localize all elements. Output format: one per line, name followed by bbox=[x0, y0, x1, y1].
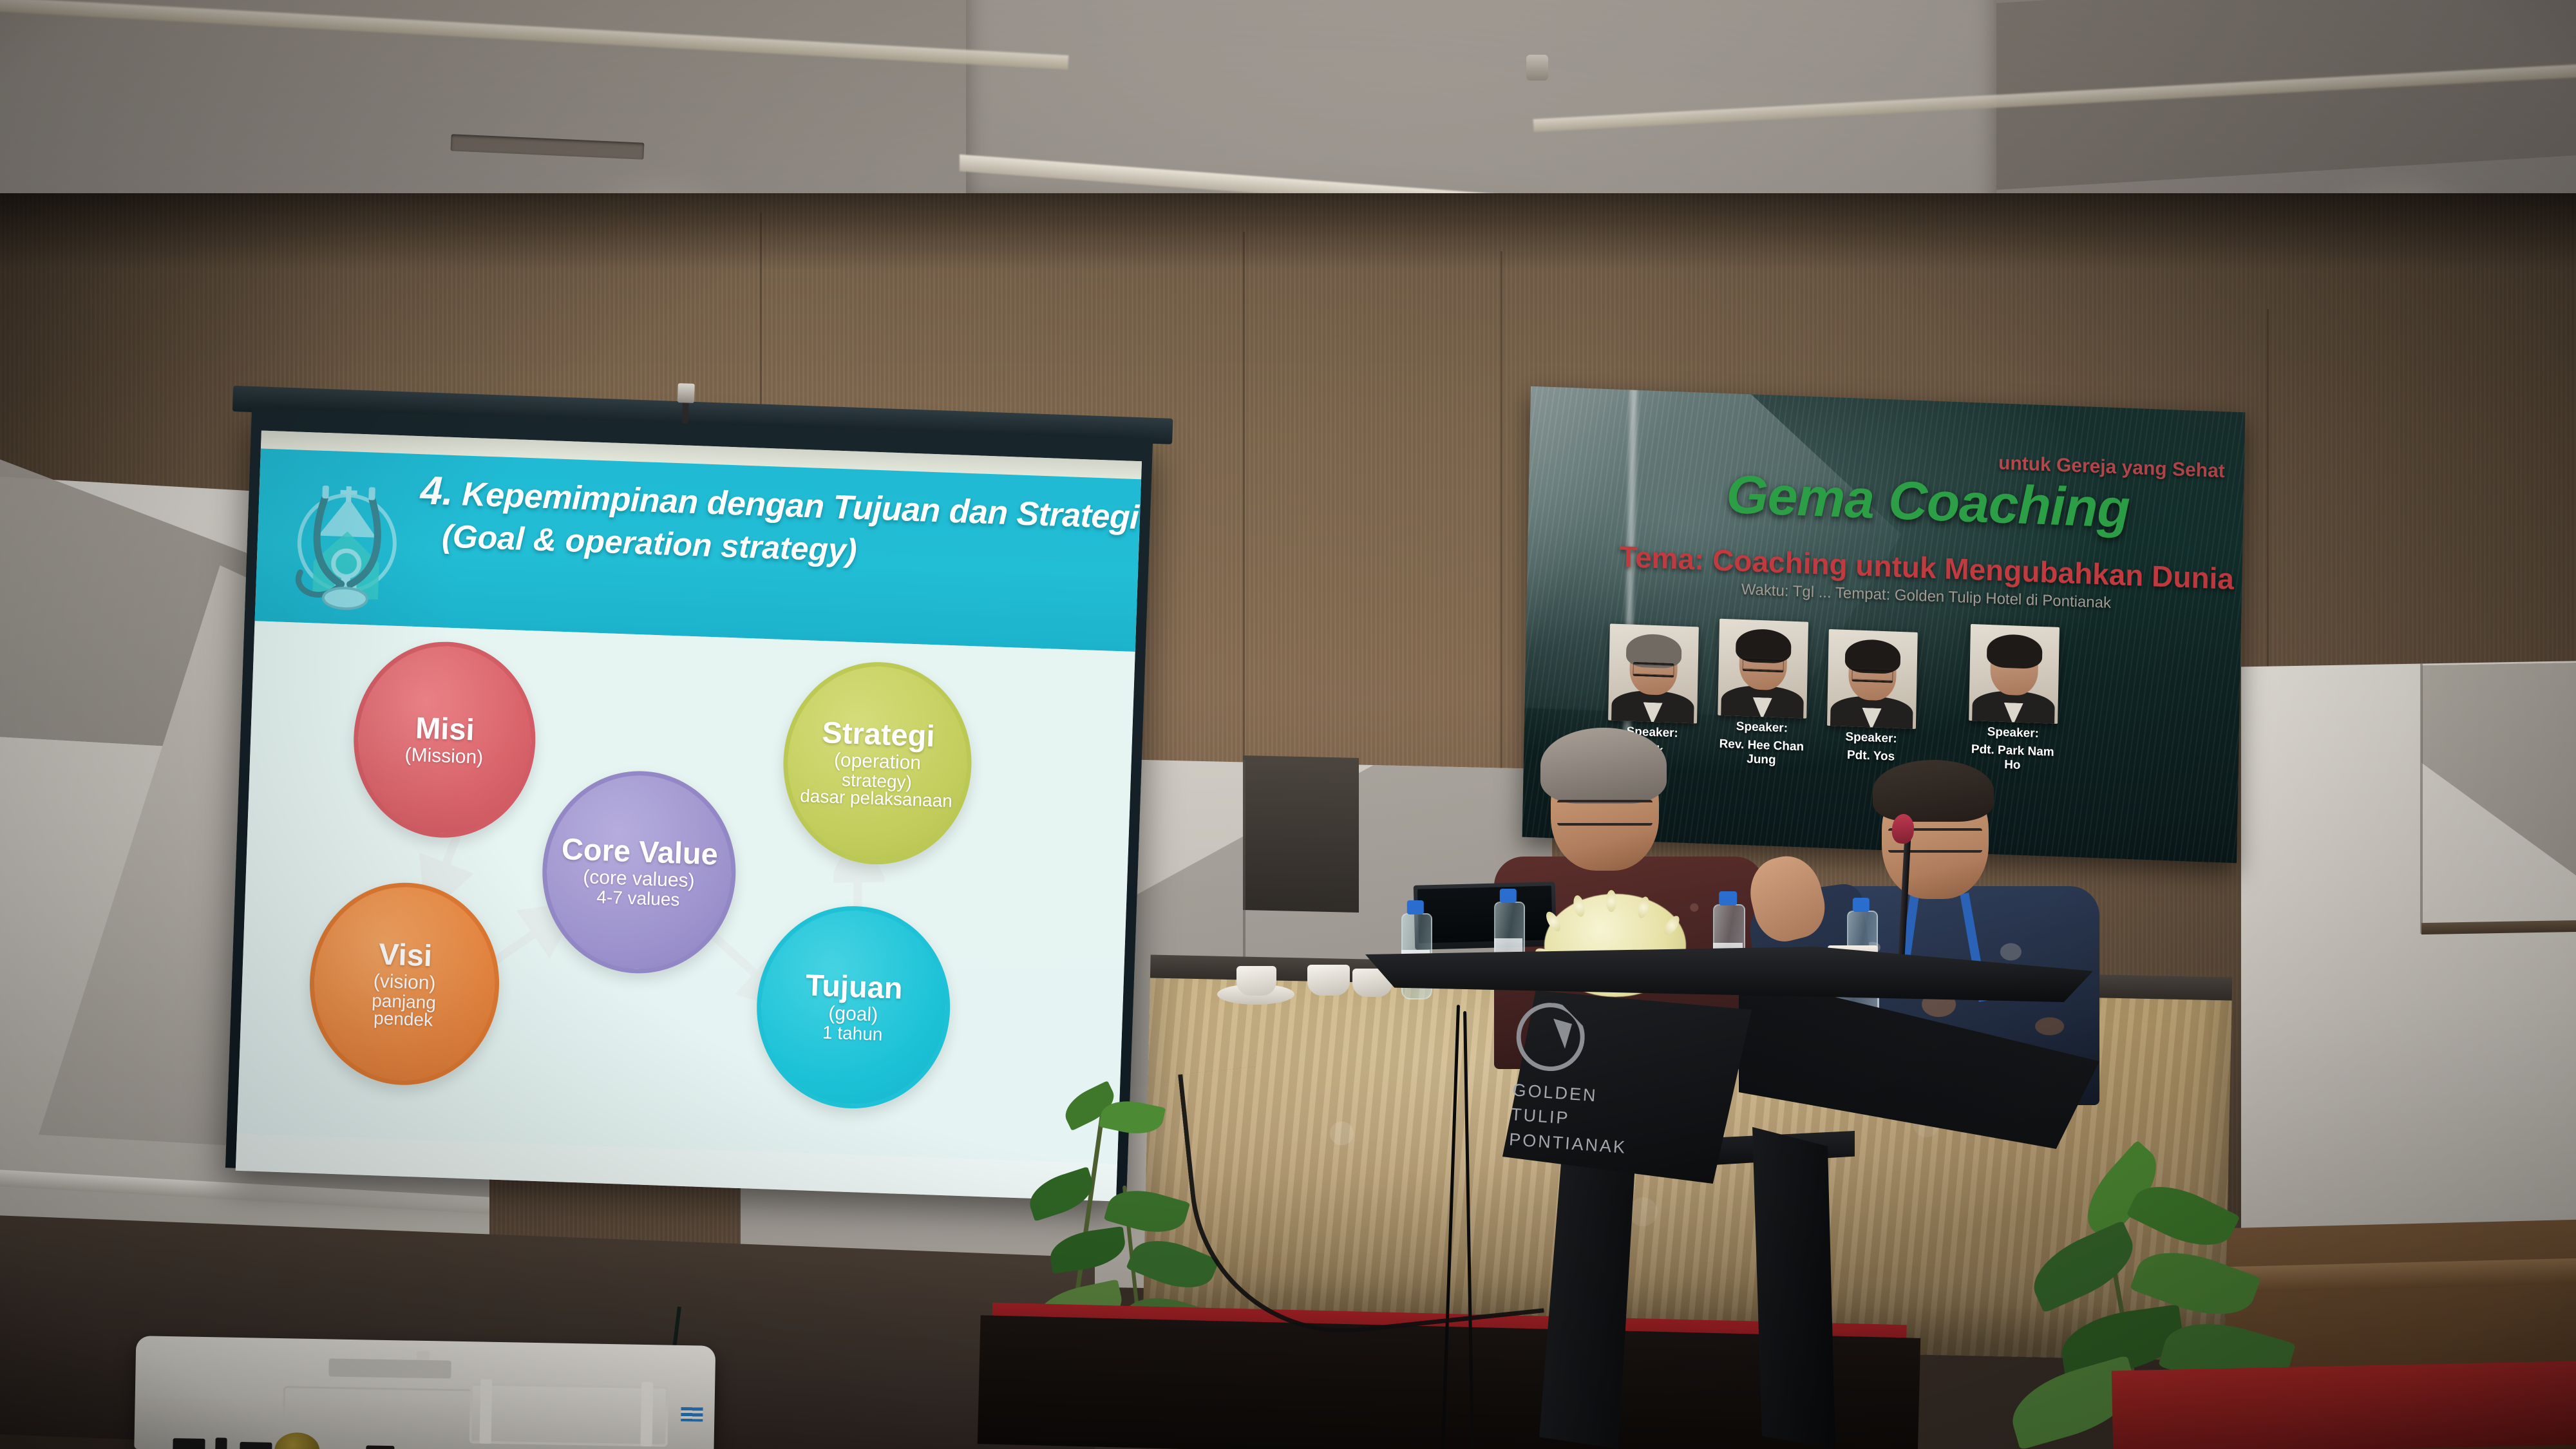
slide-body: Misi (Mission) Visi (vision) panjang pen… bbox=[237, 621, 1135, 1164]
projector bbox=[134, 1320, 715, 1449]
golden-tulip-g-logo-icon bbox=[1514, 1001, 1587, 1074]
bubble-subtitle: (goal) bbox=[828, 1004, 878, 1025]
speaker-role: Speaker: bbox=[1969, 724, 2058, 742]
glasses-icon bbox=[1633, 662, 1674, 677]
screen-clip bbox=[677, 383, 695, 403]
projector-vent bbox=[328, 1358, 451, 1378]
projector-port bbox=[240, 1442, 272, 1449]
bubble-detail: pendek bbox=[374, 1009, 433, 1030]
projector-port bbox=[173, 1438, 205, 1449]
bubble-title: Misi bbox=[415, 712, 475, 745]
speaker-photo bbox=[1608, 623, 1699, 723]
screen-frame: 4.Kepemimpinan dengan Tujuan dan Strateg… bbox=[225, 408, 1153, 1199]
speaker-card: Speaker: Pdt. Yos bbox=[1826, 629, 1918, 765]
bottle-cap bbox=[1407, 900, 1424, 914]
projector-port bbox=[215, 1437, 227, 1449]
glasses-icon bbox=[1851, 667, 1893, 683]
bottle-cap bbox=[1719, 891, 1737, 905]
bubble-detail: 1 tahun bbox=[822, 1024, 883, 1045]
bubble-subtitle: (Mission) bbox=[404, 745, 484, 768]
bubble-strategi: Strategi (operation strategy) dasar pela… bbox=[780, 659, 975, 867]
smoke-detector-icon bbox=[1526, 55, 1548, 80]
conference-room-photo: untuk Gereja yang Sehat Gema Coaching Te… bbox=[0, 0, 2576, 1449]
church-stethoscope-icon bbox=[283, 459, 411, 627]
wall-shadow bbox=[0, 193, 2576, 270]
person-hair bbox=[1873, 760, 1994, 822]
speaker-card: Speaker: Pdt. Park Nam Ho bbox=[1968, 624, 2060, 774]
bubble-detail: dasar pelaksanaan bbox=[800, 787, 952, 811]
slide-header: 4.Kepemimpinan dengan Tujuan dan Strateg… bbox=[255, 448, 1142, 652]
bubble-title: Strategi bbox=[822, 717, 936, 752]
coffee-cup bbox=[1307, 965, 1350, 996]
bubble-title: Tujuan bbox=[805, 969, 903, 1003]
projector-hatch-bar bbox=[641, 1382, 654, 1446]
person-hair bbox=[1540, 728, 1667, 804]
projector-body bbox=[134, 1336, 715, 1449]
bubble-misi: Misi (Mission) bbox=[350, 639, 538, 841]
flower-petal bbox=[1606, 890, 1616, 912]
coffee-cup bbox=[1236, 966, 1276, 996]
plant-leaf bbox=[1048, 1226, 1128, 1274]
slide-title-block: 4.Kepemimpinan dengan Tujuan dan Strateg… bbox=[418, 468, 1129, 579]
slide-number: 4. bbox=[420, 468, 454, 514]
bubble-title: Visi bbox=[378, 938, 432, 971]
projector-brand-mark bbox=[681, 1407, 703, 1422]
speaker-photo bbox=[1827, 629, 1918, 729]
lectern-leg bbox=[1739, 1127, 1835, 1449]
red-carpet bbox=[2112, 1359, 2576, 1449]
wall-panel-seam bbox=[2420, 663, 2423, 934]
screen-surface: 4.Kepemimpinan dengan Tujuan dan Strateg… bbox=[236, 430, 1142, 1201]
speaker-photo bbox=[1969, 624, 2060, 724]
glasses-icon bbox=[1743, 657, 1784, 672]
bubble-subtitle: (vision) bbox=[373, 972, 436, 994]
speaker-hair bbox=[1987, 634, 2043, 669]
glasses-icon bbox=[1557, 800, 1653, 826]
projector-lens-hatch bbox=[469, 1383, 669, 1446]
lectern-top bbox=[1365, 947, 2093, 1002]
bubble-detail: 4-7 values bbox=[596, 889, 680, 910]
lectern-leg bbox=[1539, 1146, 1636, 1449]
speaker-photo bbox=[1718, 619, 1808, 719]
projector-hatch-bar bbox=[480, 1379, 493, 1444]
projection-screen: 4.Kepemimpinan dengan Tujuan dan Strateg… bbox=[225, 397, 1153, 1213]
lectern-branding: GOLDEN TULIP PONTIANAK bbox=[1508, 1001, 1680, 1163]
bubble-title: Core Value bbox=[561, 833, 718, 869]
bottle-cap bbox=[1500, 889, 1517, 903]
wall-recess-dark bbox=[1243, 755, 1359, 913]
speaker-role: Speaker: bbox=[1826, 730, 1915, 747]
projector-port bbox=[366, 1445, 395, 1449]
bottle-cap bbox=[1853, 898, 1870, 912]
